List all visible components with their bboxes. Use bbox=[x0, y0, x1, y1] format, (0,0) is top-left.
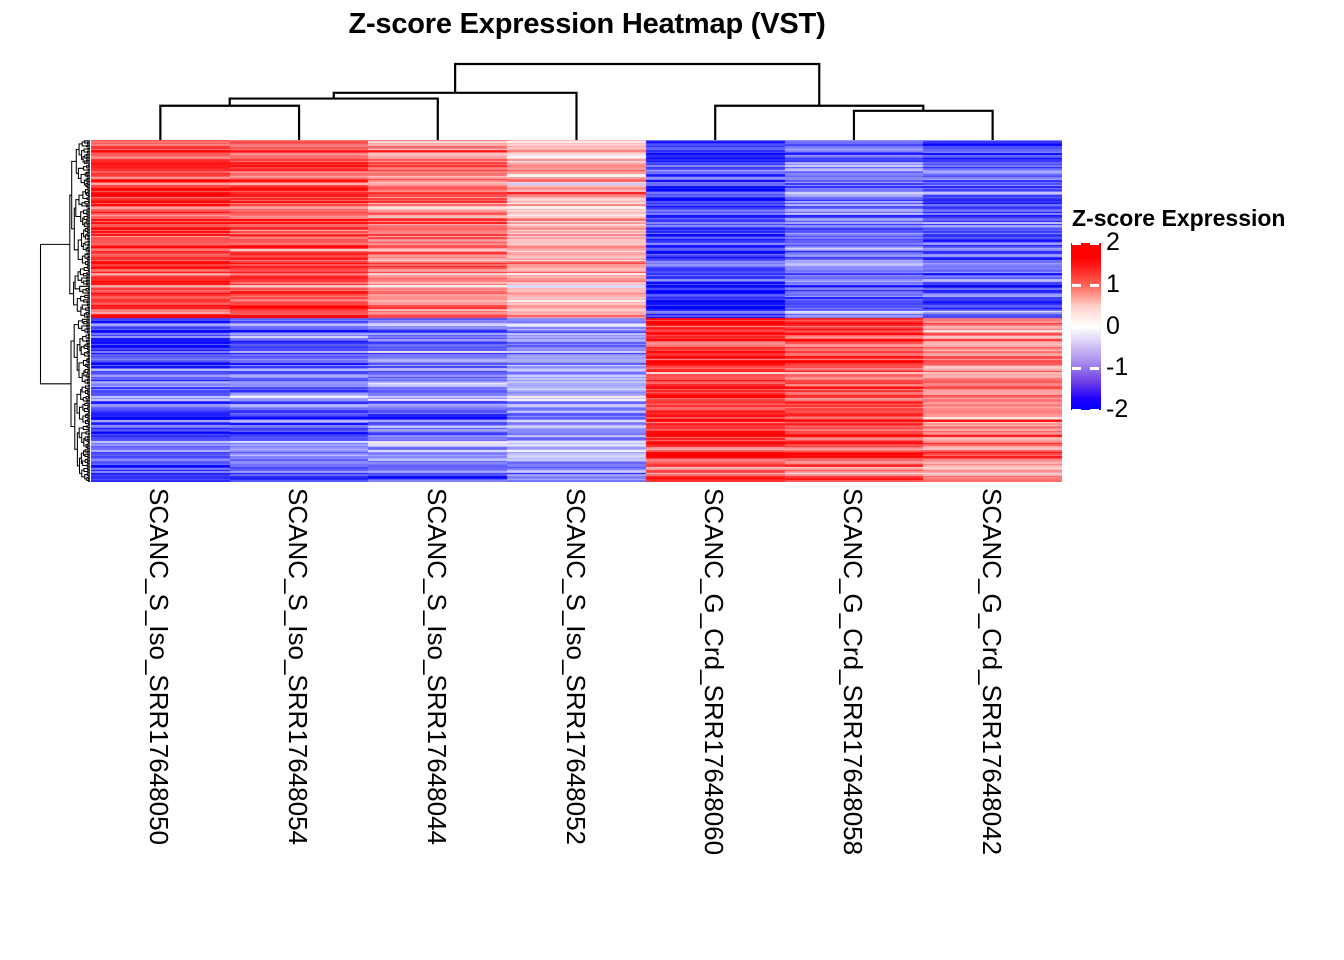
legend-tick-mark-left-3 bbox=[1072, 367, 1081, 370]
legend-tick-mark-left-0 bbox=[1072, 242, 1081, 245]
heatmap-canvas bbox=[91, 140, 1062, 482]
heatmap-body bbox=[91, 140, 1062, 482]
legend-tick-label-4: -2 bbox=[1106, 397, 1128, 422]
legend-tick-mark-left-4 bbox=[1072, 409, 1081, 412]
column-label-3: SCANC_S_Iso_SRR17648052 bbox=[564, 488, 588, 958]
legend-tick-label-3: -1 bbox=[1106, 355, 1128, 380]
row-dendrogram-svg bbox=[20, 140, 90, 482]
legend-tick-label-1: 1 bbox=[1106, 272, 1120, 297]
column-dendrogram bbox=[91, 58, 1062, 140]
column-label-0: SCANC_S_Iso_SRR17648050 bbox=[147, 488, 171, 958]
column-label-6: SCANC_G_Crd_SRR17648042 bbox=[980, 488, 1004, 958]
legend-tick-mark-left-2 bbox=[1072, 326, 1081, 329]
column-label-4: SCANC_G_Crd_SRR17648060 bbox=[702, 488, 726, 958]
page-title: Z-score Expression Heatmap (VST) bbox=[0, 8, 1174, 41]
legend-tick-mark-right-0 bbox=[1090, 242, 1099, 245]
column-label-2: SCANC_S_Iso_SRR17648044 bbox=[425, 488, 449, 958]
legend-tick-mark-right-4 bbox=[1090, 409, 1099, 412]
legend-tick-label-2: 0 bbox=[1106, 314, 1120, 339]
legend-tick-mark-right-2 bbox=[1090, 326, 1099, 329]
column-dendrogram-svg bbox=[91, 58, 1062, 140]
legend-tick-label-0: 2 bbox=[1106, 230, 1120, 255]
column-label-group: SCANC_S_Iso_SRR17648050SCANC_S_Iso_SRR17… bbox=[91, 482, 1062, 952]
legend-tick-mark-left-1 bbox=[1072, 284, 1081, 287]
legend-tick-mark-right-1 bbox=[1090, 284, 1099, 287]
legend-title: Z-score Expression bbox=[1072, 205, 1285, 232]
column-label-5: SCANC_G_Crd_SRR17648058 bbox=[841, 488, 865, 958]
legend-tick-mark-right-3 bbox=[1090, 367, 1099, 370]
heatmap-figure: Z-score Expression Heatmap (VST) SCANC_S… bbox=[0, 0, 1344, 960]
legend: Z-score Expression 210-1-2 bbox=[1070, 205, 1340, 420]
row-dendrogram bbox=[20, 140, 90, 482]
column-label-1: SCANC_S_Iso_SRR17648054 bbox=[286, 488, 310, 958]
